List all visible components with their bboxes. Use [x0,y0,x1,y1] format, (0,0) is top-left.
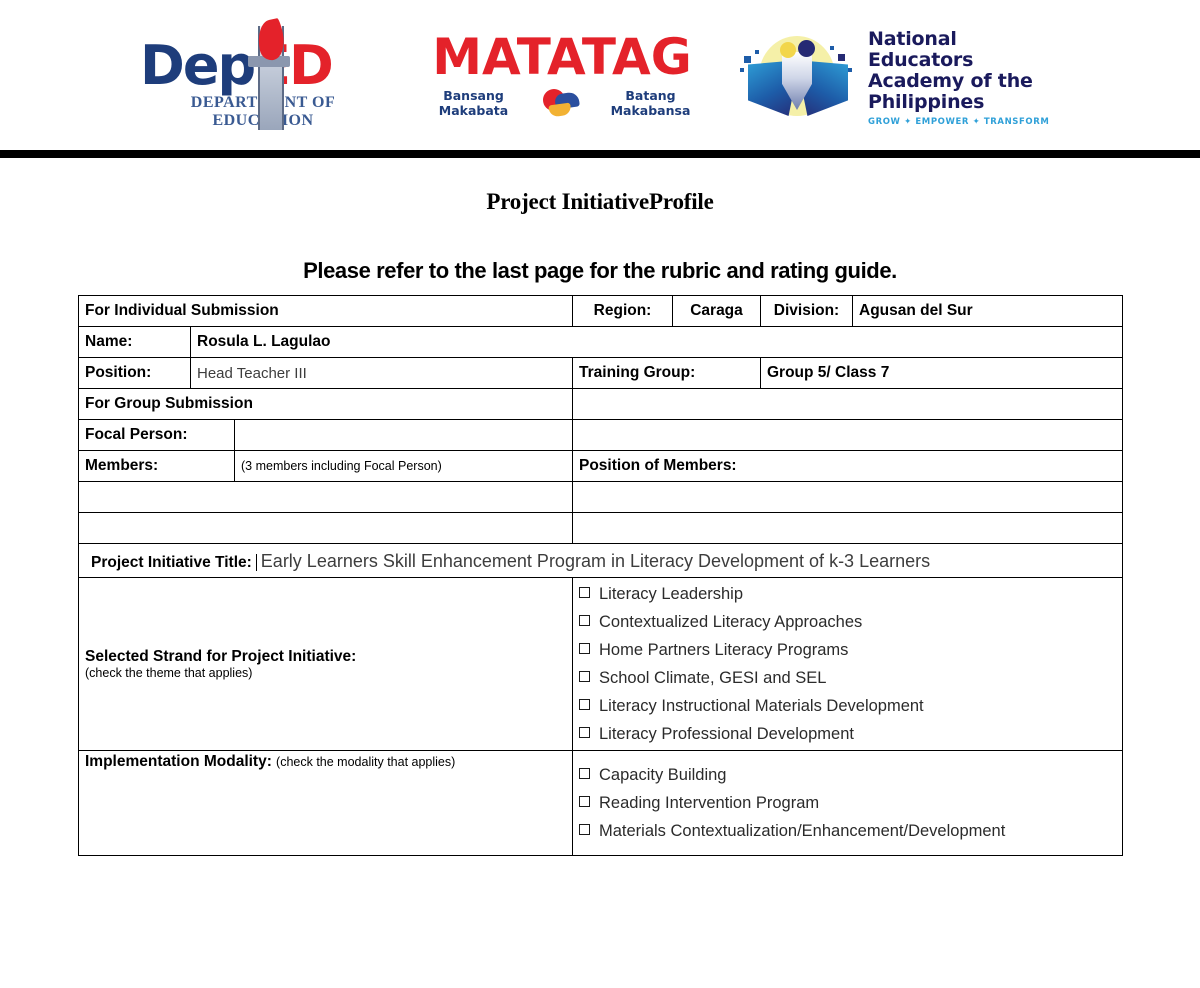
training-group-value[interactable]: Group 5/ Class 7 [761,358,1123,389]
checkbox-icon[interactable] [579,643,590,654]
member-position-input-2[interactable] [573,513,1123,544]
checkbox-icon[interactable] [579,587,590,598]
strand-note: (check the theme that applies) [85,666,566,680]
strand-option-5[interactable]: Literacy Professional Development [579,720,1116,748]
member-position-input-1[interactable] [573,482,1123,513]
table-row: For Individual Submission Region: Caraga… [79,296,1123,327]
strand-option-2[interactable]: Home Partners Literacy Programs [579,636,1116,664]
checkbox-icon[interactable] [579,671,590,682]
focal-person-value[interactable] [235,420,573,451]
group-submission-blank [573,389,1123,420]
matatag-logo: MATATAG Bansang Makabata Batang Makabans… [412,28,712,128]
training-group-label: Training Group: [573,358,761,389]
modality-label: Implementation Modality: [85,753,272,770]
modality-option-label-0: Capacity Building [599,761,727,789]
focal-person-label: Focal Person: [79,420,235,451]
table-row [79,513,1123,544]
member-name-input-1[interactable] [79,482,573,513]
position-value[interactable]: Head Teacher III [191,358,573,389]
modality-note: (check the modality that applies) [276,755,455,769]
modality-option-label-2: Materials Contextualization/Enhancement/… [599,817,1005,845]
strand-option-label-5: Literacy Professional Development [599,720,854,748]
heart-hands-icon [541,89,583,117]
members-note: (3 members including Focal Person) [235,451,573,482]
project-title-label: Project Initiative Title: [91,554,257,571]
project-title-value[interactable]: Early Learners Skill Enhancement Program… [261,551,930,571]
name-label: Name: [79,327,191,358]
focal-person-right-blank [573,420,1123,451]
table-row: Focal Person: [79,420,1123,451]
neap-name-line-1: National [868,29,1049,50]
project-title-cell: Project Initiative Title:Early Learners … [79,544,1123,578]
neap-emblem-icon [738,30,856,126]
checkbox-icon[interactable] [579,727,590,738]
group-submission-label: For Group Submission [79,389,573,420]
strand-options-cell: Literacy Leadership Contextualized Liter… [573,578,1123,751]
neap-logo: National Educators Academy of the Philip… [738,29,1049,127]
neap-name-line-3: Academy of the [868,71,1049,92]
position-label: Position: [79,358,191,389]
matatag-tagline-right: Batang Makabansa [589,88,712,118]
modality-option-label-1: Reading Intervention Program [599,789,819,817]
matatag-wordmark: MATATAG [412,28,712,86]
strand-option-label-2: Home Partners Literacy Programs [599,636,848,664]
strand-label-cell: Selected Strand for Project Initiative: … [79,578,573,751]
project-initiative-profile-table: For Individual Submission Region: Caraga… [78,295,1123,856]
strand-option-label-4: Literacy Instructional Materials Develop… [599,692,924,720]
header-logo-band: DepED DEPARTMENT OF EDUCATION MATATAG Ba… [0,0,1200,150]
page-subtitle: Please refer to the last page for the ru… [0,258,1200,284]
table-row: For Group Submission [79,389,1123,420]
modality-label-cell: Implementation Modality: (check the moda… [79,751,573,856]
strand-option-label-0: Literacy Leadership [599,580,743,608]
table-row: Selected Strand for Project Initiative: … [79,578,1123,751]
neap-name-line-4: Philippines [868,92,1049,113]
matatag-tagline: Bansang Makabata Batang Makabansa [412,88,712,118]
modality-option-2[interactable]: Materials Contextualization/Enhancement/… [579,817,1116,845]
table-row: Position: Head Teacher III Training Grou… [79,358,1123,389]
logo-row: DepED DEPARTMENT OF EDUCATION MATATAG Ba… [140,18,1060,138]
checkbox-icon[interactable] [579,768,590,779]
division-value[interactable]: Agusan del Sur [853,296,1123,327]
deped-logo: DepED DEPARTMENT OF EDUCATION [140,24,386,132]
checkbox-icon[interactable] [579,796,590,807]
table-row [79,482,1123,513]
strand-option-4[interactable]: Literacy Instructional Materials Develop… [579,692,1116,720]
member-name-input-2[interactable] [79,513,573,544]
region-value[interactable]: Caraga [673,296,761,327]
neap-slogan: GROW ✦ EMPOWER ✦ TRANSFORM [868,117,1049,127]
modality-option-0[interactable]: Capacity Building [579,761,1116,789]
strand-option-label-1: Contextualized Literacy Approaches [599,608,862,636]
strand-option-1[interactable]: Contextualized Literacy Approaches [579,608,1116,636]
strand-option-0[interactable]: Literacy Leadership [579,580,1116,608]
checkbox-icon[interactable] [579,699,590,710]
neap-name-line-2: Educators [868,50,1049,71]
header-divider-rule [0,150,1200,158]
position-of-members-label: Position of Members: [573,451,1123,482]
region-label: Region: [573,296,673,327]
table-row: Project Initiative Title:Early Learners … [79,544,1123,578]
table-row: Members: (3 members including Focal Pers… [79,451,1123,482]
division-label: Division: [761,296,853,327]
page-title: Project InitiativeProfile [0,189,1200,215]
strand-label: Selected Strand for Project Initiative: [85,648,356,665]
deped-wordmark-dep: Dep [140,34,254,97]
name-value[interactable]: Rosula L. Lagulao [191,327,1123,358]
strand-option-3[interactable]: School Climate, GESI and SEL [579,664,1116,692]
members-label: Members: [79,451,235,482]
individual-submission-label: For Individual Submission [79,296,573,327]
checkbox-icon[interactable] [579,824,590,835]
neap-text: National Educators Academy of the Philip… [868,29,1049,127]
matatag-tagline-left: Bansang Makabata [412,88,535,118]
checkbox-icon[interactable] [579,615,590,626]
modality-option-1[interactable]: Reading Intervention Program [579,789,1116,817]
table-row: Name: Rosula L. Lagulao [79,327,1123,358]
modality-options-cell: Capacity Building Reading Intervention P… [573,751,1123,856]
strand-option-label-3: School Climate, GESI and SEL [599,664,826,692]
table-row: Implementation Modality: (check the moda… [79,751,1123,856]
